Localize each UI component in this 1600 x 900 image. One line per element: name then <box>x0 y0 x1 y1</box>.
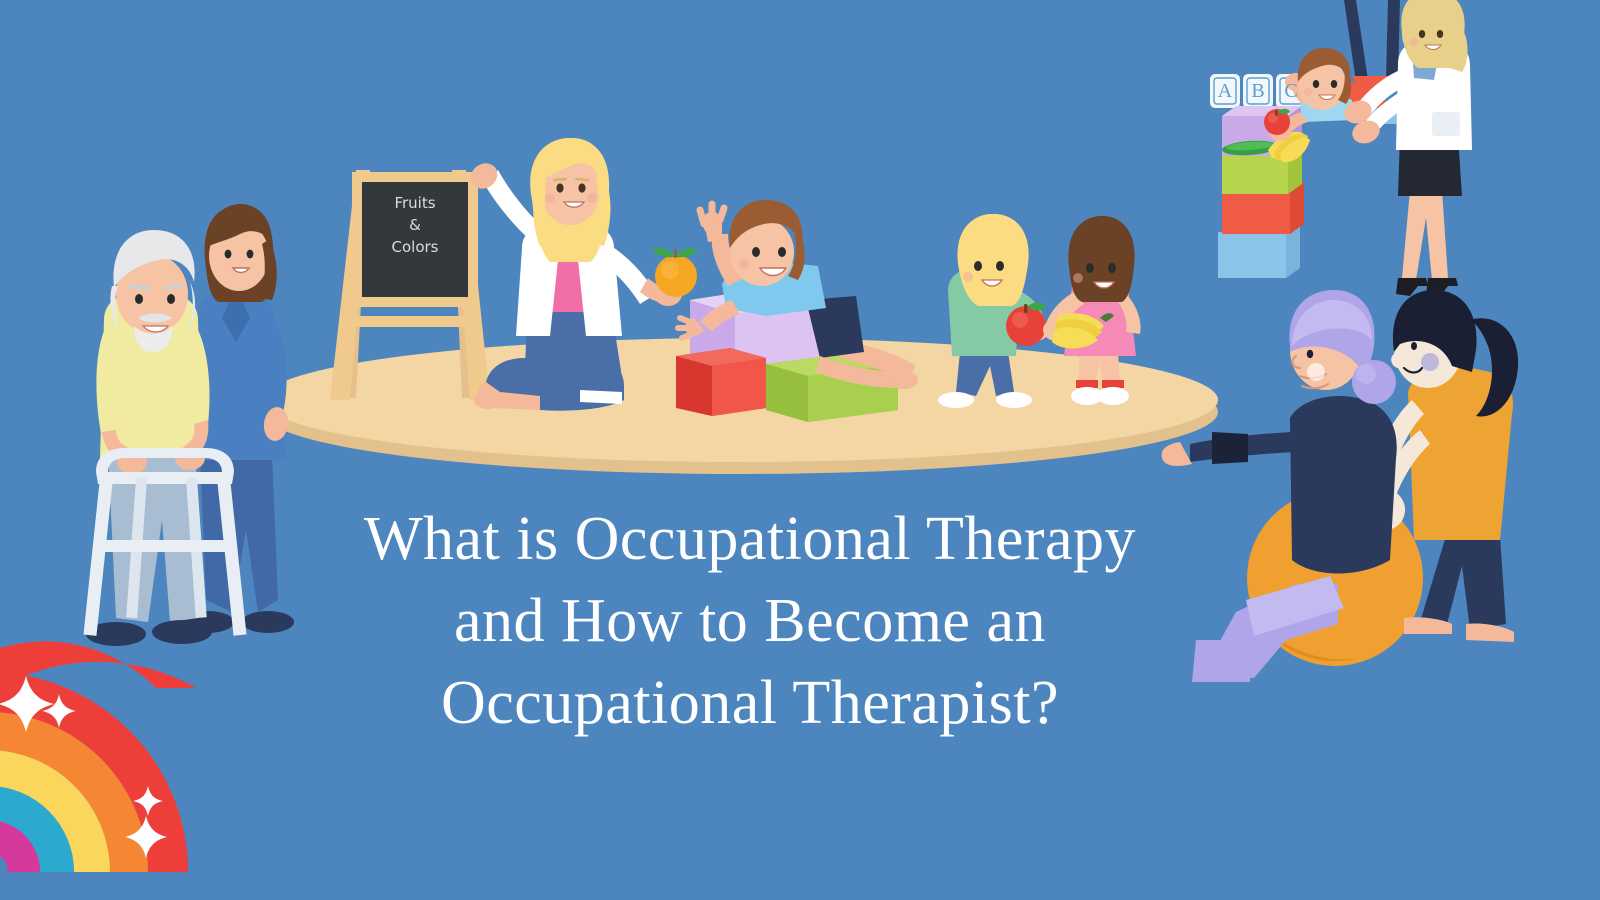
poster-artwork <box>0 0 1600 900</box>
letter-a: A <box>1210 74 1240 108</box>
block-red <box>676 348 766 416</box>
alphabet-letters-overlay: A B C <box>1210 74 1306 108</box>
illustration-poster: Fruits & Colors A B C What is Occupation… <box>0 0 1600 900</box>
stacked-toy-blocks-with-fruit <box>1212 106 1310 278</box>
letter-b: B <box>1243 74 1273 108</box>
chalkboard-line-2: & <box>362 214 468 236</box>
chalkboard-line-3: Colors <box>362 236 468 258</box>
elderly-man-with-walker-and-nurse <box>84 204 294 646</box>
chalkboard-line-1: Fruits <box>362 192 468 214</box>
letter-c: C <box>1276 74 1306 108</box>
chalkboard-text: Fruits & Colors <box>362 192 468 258</box>
